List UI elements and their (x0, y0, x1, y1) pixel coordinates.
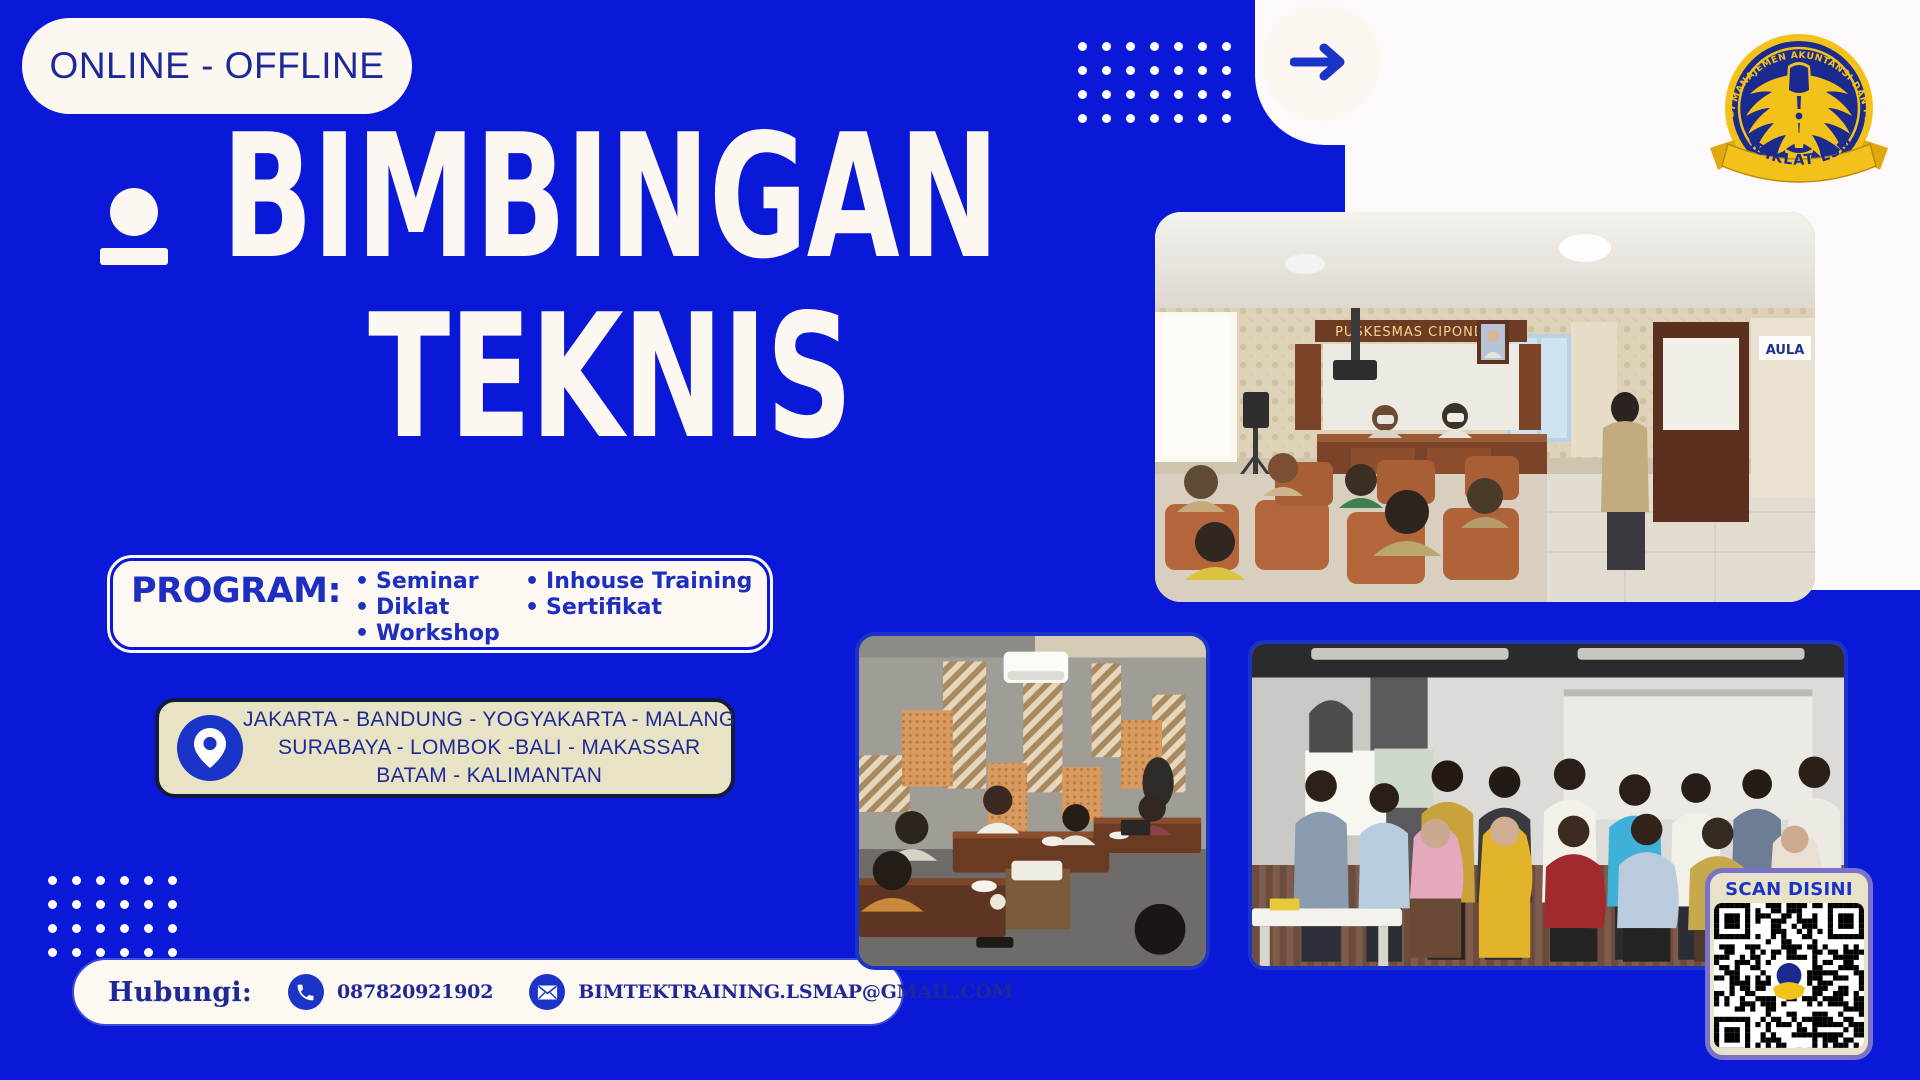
location-line: BATAM - KALIMANTAN (243, 762, 735, 790)
decor-dot (168, 900, 177, 909)
decor-dot (1222, 114, 1231, 123)
program-item: •Sertifikat (525, 597, 755, 619)
decor-dot (120, 948, 129, 957)
decor-dot (1126, 42, 1135, 51)
program-column-2: •Inhouse Training•Sertifikat (525, 571, 755, 649)
location-line: SURABAYA - LOMBOK -BALI - MAKASSAR (243, 734, 735, 762)
envelope-icon (529, 974, 565, 1010)
contact-email-entry[interactable]: BIMTEKTRAINING.LSMAP@GMAIL.COM (529, 974, 1012, 1010)
bullet-icon: • (355, 569, 369, 594)
decor-dot (1102, 66, 1111, 75)
decor-dot (1126, 90, 1135, 99)
decor-dot (1198, 66, 1207, 75)
decor-dot (144, 948, 153, 957)
decor-dot (144, 900, 153, 909)
decor-dot (1102, 42, 1111, 51)
decor-dot (1150, 42, 1159, 51)
qr-scan-card[interactable]: SCAN DISINI (1705, 868, 1873, 1060)
bullet-icon: • (525, 569, 539, 594)
bullet-icon: • (355, 621, 369, 646)
person-icon-head (110, 188, 158, 236)
decor-dot (1078, 66, 1087, 75)
photo-meeting-room-art (859, 636, 1206, 966)
program-item: •Inhouse Training (525, 571, 755, 593)
title-line-2: TEKNIS (212, 298, 1007, 461)
program-item-label: Inhouse Training (546, 569, 752, 594)
contact-bar: Hubungi: 087820921902 BIMTEKTRAINING.LSM… (72, 958, 904, 1026)
arrow-right-icon (1290, 42, 1352, 82)
decor-dot (1078, 114, 1087, 123)
qr-scan-label: SCAN DISINI (1725, 879, 1853, 900)
location-line: JAKARTA - BANDUNG - YOGYAKARTA - MALANG (243, 706, 735, 734)
page-title: BIMBINGAN TEKNIS (200, 118, 1020, 416)
decor-dot (120, 924, 129, 933)
decor-dot (1150, 114, 1159, 123)
dot-grid-bottom (48, 876, 183, 963)
decor-dot (1174, 42, 1183, 51)
contact-phone-entry[interactable]: 087820921902 (288, 974, 493, 1010)
photo-meeting-room (855, 632, 1210, 970)
decor-dot (1078, 42, 1087, 51)
person-icon (100, 188, 170, 268)
decor-dot (168, 876, 177, 885)
program-columns: •Seminar•Diklat•Workshop •Inhouse Traini… (355, 571, 755, 649)
bullet-icon: • (355, 595, 369, 620)
decor-dot (1150, 66, 1159, 75)
garuda-seal-logo: LEMBAGA STUDI MANAJEMEN AKUNTANSI DAN PE… (1700, 20, 1898, 200)
map-pin-badge (177, 715, 243, 781)
program-label: PROGRAM: (131, 570, 341, 609)
photo-seminar-room: PUSKESMAS CIPONDOH (1155, 212, 1815, 602)
decor-dot (1222, 42, 1231, 51)
program-item-label: Seminar (376, 569, 479, 594)
decor-dot (1126, 66, 1135, 75)
program-item: •Workshop (355, 623, 525, 645)
decor-dot (1198, 42, 1207, 51)
dot-grid-top (1078, 42, 1237, 129)
decor-dot (96, 900, 105, 909)
location-card: JAKARTA - BANDUNG - YOGYAKARTA - MALANGS… (155, 698, 735, 798)
decor-dot (1102, 114, 1111, 123)
decor-dot (120, 876, 129, 885)
program-item-label: Sertifikat (546, 595, 662, 620)
decor-dot (1198, 114, 1207, 123)
decor-dot (96, 948, 105, 957)
decor-dot (1078, 90, 1087, 99)
online-offline-label: ONLINE - OFFLINE (50, 45, 385, 87)
decor-dot (1174, 66, 1183, 75)
decor-dot (168, 948, 177, 957)
decor-dot (48, 924, 57, 933)
decor-dot (72, 948, 81, 957)
decor-dot (72, 900, 81, 909)
decor-dot (1174, 114, 1183, 123)
decor-dot (48, 948, 57, 957)
location-text: JAKARTA - BANDUNG - YOGYAKARTA - MALANGS… (243, 706, 753, 790)
decor-dot (1222, 90, 1231, 99)
decor-dot (1150, 90, 1159, 99)
decor-dot (48, 900, 57, 909)
qr-code-matrix (1714, 903, 1864, 1048)
decor-dot (96, 924, 105, 933)
svg-text:AULA: AULA (1766, 343, 1805, 358)
poster-canvas: ONLINE - OFFLINE BIMBINGAN TEKNIS PROGRA… (0, 0, 1920, 1080)
decor-dot (144, 876, 153, 885)
phone-icon (288, 974, 324, 1010)
decor-dot (1198, 90, 1207, 99)
decor-dot (96, 876, 105, 885)
decor-dot (72, 924, 81, 933)
program-item: •Seminar (355, 571, 525, 593)
pusdiklat-lsmap-logo: LEMBAGA STUDI MANAJEMEN AKUNTANSI DAN PE… (1700, 20, 1898, 200)
decor-dot (48, 876, 57, 885)
photo-seminar-room-art: PUSKESMAS CIPONDOH (1155, 212, 1815, 602)
decor-dot (1126, 114, 1135, 123)
program-item-label: Workshop (376, 621, 500, 646)
decor-dot (72, 876, 81, 885)
program-item: •Diklat (355, 597, 525, 619)
title-line-1: BIMBINGAN (212, 118, 1007, 281)
decor-dot (120, 900, 129, 909)
program-item-label: Diklat (376, 595, 449, 620)
contact-label: Hubungi: (108, 977, 252, 1008)
arrow-circle[interactable] (1262, 3, 1380, 121)
decor-dot (1102, 90, 1111, 99)
contact-email-address: BIMTEKTRAINING.LSMAP@GMAIL.COM (578, 981, 1012, 1003)
contact-phone-number: 087820921902 (337, 981, 493, 1003)
decor-dot (1174, 90, 1183, 99)
bullet-icon: • (525, 595, 539, 620)
program-column-1: •Seminar•Diklat•Workshop (355, 571, 525, 649)
person-icon-body (100, 248, 168, 265)
program-card: PROGRAM: •Seminar•Diklat•Workshop •Inhou… (110, 558, 770, 650)
decor-dot (1222, 66, 1231, 75)
decor-dot (168, 924, 177, 933)
arrow-button[interactable] (1255, 0, 1395, 145)
map-pin-icon (193, 727, 227, 769)
qr-code-icon[interactable] (1714, 903, 1864, 1048)
decor-dot (144, 924, 153, 933)
